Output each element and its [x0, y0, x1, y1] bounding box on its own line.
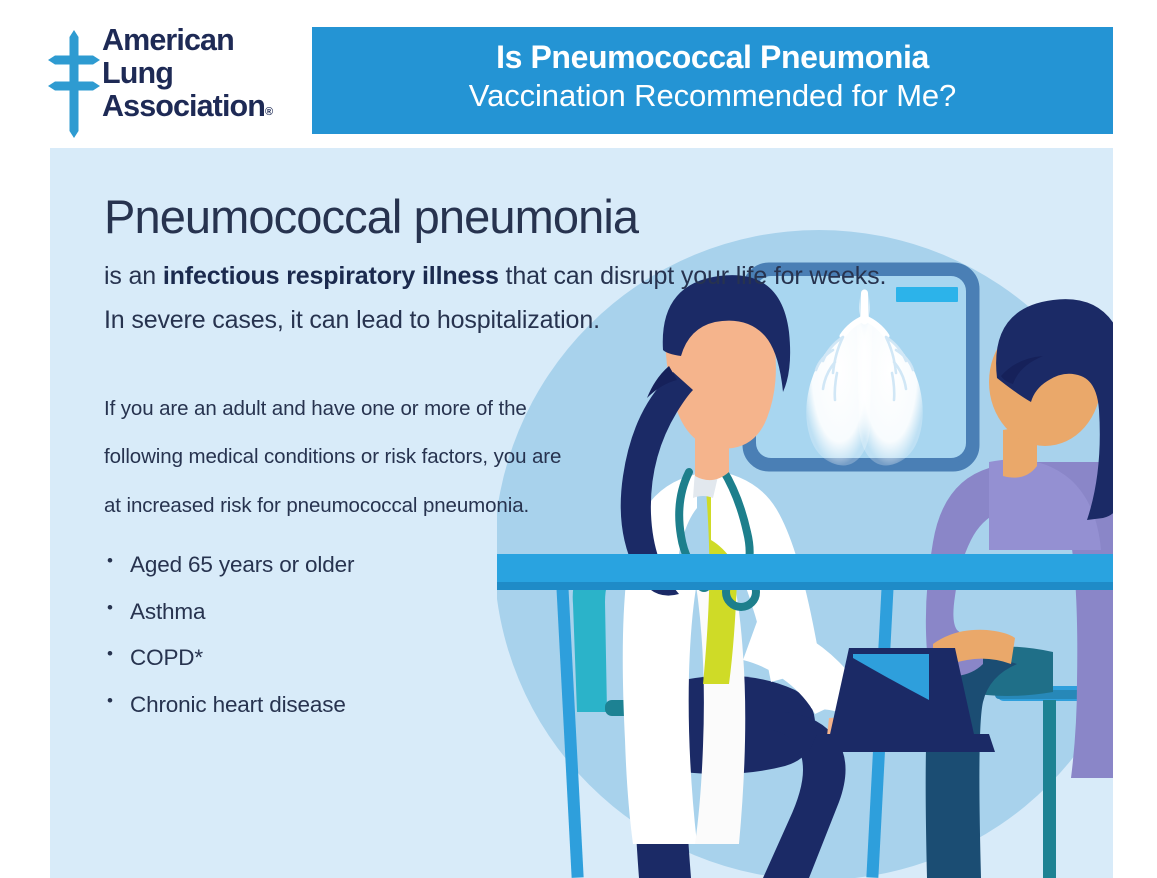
content-panel: Pneumococcal pneumonia is an infectious … — [50, 148, 1113, 878]
list-item: Asthma — [104, 601, 554, 624]
lead-text-emphasis: infectious respiratory illness — [163, 262, 499, 290]
header-banner: Is Pneumococcal Pneumonia Vaccination Re… — [312, 27, 1113, 134]
logo-wordmark: American Lung Association® — [102, 24, 302, 123]
header-title: Is Pneumococcal Pneumonia — [312, 37, 1113, 78]
text-column: Pneumococcal pneumonia is an infectious … — [104, 193, 604, 740]
list-item: COPD* — [104, 647, 554, 670]
logo-line-1: American — [102, 23, 234, 57]
double-bar-cross-icon — [48, 30, 100, 138]
page-title: Pneumococcal pneumonia — [104, 193, 604, 240]
risk-factor-list: Aged 65 years or older Asthma COPD* Chro… — [104, 554, 554, 716]
logo-line-2: Lung — [102, 56, 173, 90]
lead-text-before: is an — [104, 262, 163, 290]
logo-line-3: Association — [102, 89, 265, 123]
xray-label-bar — [896, 287, 958, 302]
list-item: Aged 65 years or older — [104, 554, 554, 577]
american-lung-association-logo: American Lung Association® — [48, 28, 298, 140]
registered-trademark-mark: ® — [265, 106, 273, 118]
infographic-page: American Lung Association® Is Pneumococc… — [0, 0, 1157, 878]
header-subtitle: Vaccination Recommended for Me? — [312, 76, 1113, 116]
list-item: Chronic heart disease — [104, 694, 554, 717]
secondary-paragraph: If you are an adult and have one or more… — [104, 385, 574, 531]
lead-paragraph: is an infectious respiratory illness tha… — [104, 254, 894, 343]
